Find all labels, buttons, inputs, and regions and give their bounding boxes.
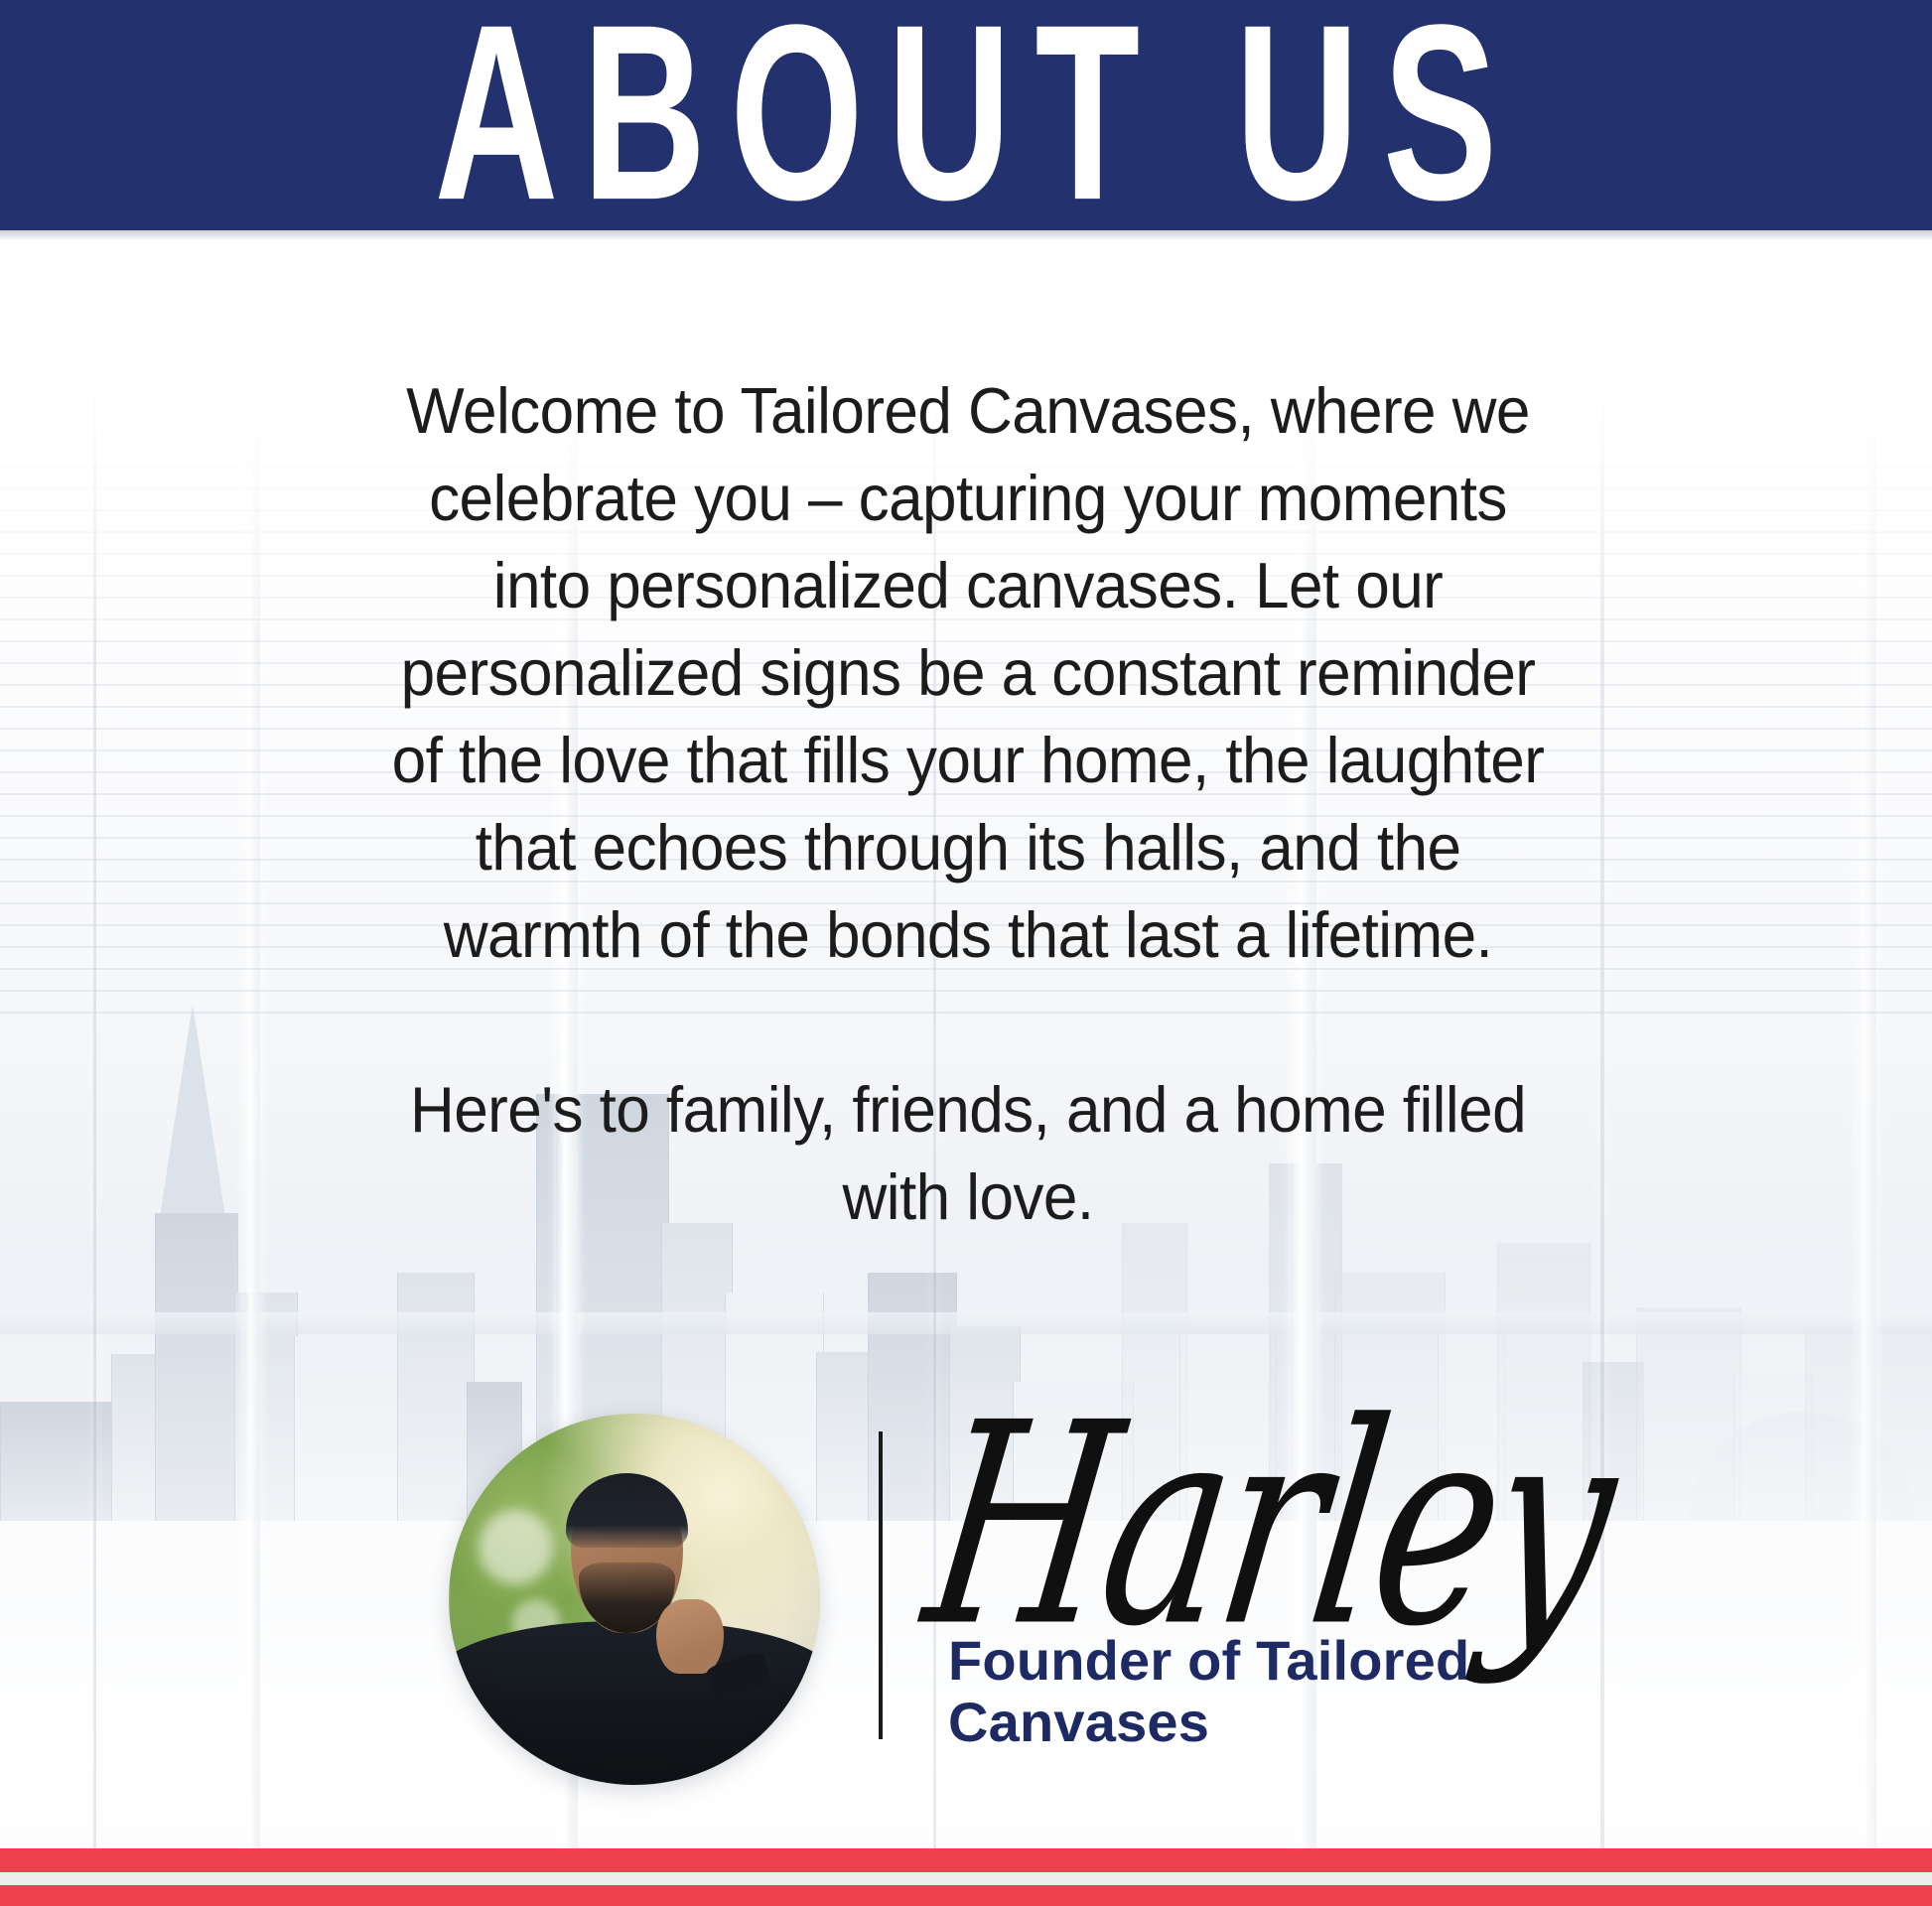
founder-signature: Harley bbox=[914, 1388, 1373, 1667]
vertical-divider bbox=[879, 1431, 883, 1739]
about-us-body: Welcome to Tailored Canvases, where we c… bbox=[238, 280, 1699, 1328]
about-paragraph-2: Here's to family, friends, and a home fi… bbox=[238, 1066, 1699, 1241]
founder-title: Founder of Tailored Canvases bbox=[948, 1630, 1584, 1753]
about-paragraph-1: Welcome to Tailored Canvases, where we c… bbox=[392, 374, 1545, 971]
header-underline bbox=[0, 230, 1932, 239]
portrait-vignette bbox=[449, 1414, 820, 1785]
header-banner: ABOUT US bbox=[0, 0, 1932, 230]
footer-red-bar-bottom bbox=[0, 1885, 1932, 1906]
founder-portrait-avatar bbox=[449, 1414, 820, 1785]
footer-red-bar-top bbox=[0, 1848, 1932, 1872]
footer-gap bbox=[0, 1872, 1932, 1885]
about-us-page: ABOUT US Welcome to Tailored Canvases, w… bbox=[0, 0, 1932, 1906]
page-title: ABOUT US bbox=[411, 0, 1522, 230]
